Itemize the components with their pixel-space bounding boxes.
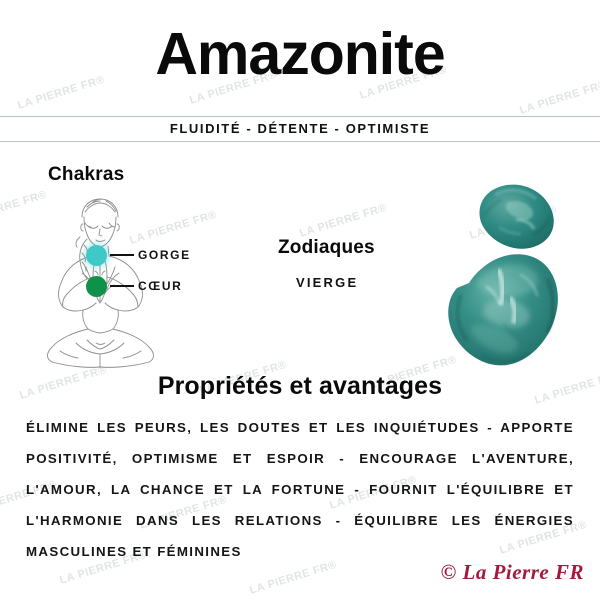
page-subtitle: FLUIDITÉ - DÉTENTE - OPTIMISTE <box>0 120 600 138</box>
leader-line-gorge <box>110 254 134 256</box>
chakras-heading: Chakras <box>48 164 124 186</box>
divider-top <box>0 116 600 117</box>
watermark-text: LA PIERRE FR® <box>298 202 388 240</box>
divider-bottom <box>0 141 600 142</box>
product-info-card: LA PIERRE FR® LA PIERRE FR® LA PIERRE FR… <box>0 0 600 600</box>
leader-line-coeur <box>110 285 134 287</box>
chakra-dot-gorge <box>86 245 107 266</box>
page-title: Amazonite <box>0 18 600 90</box>
zodiaques-heading: Zodiaques <box>278 237 375 259</box>
amazonite-stones-image <box>415 175 590 375</box>
brand-signature: © La Pierre FR <box>441 560 584 585</box>
properties-heading: Propriétés et avantages <box>0 372 600 401</box>
zodiaque-sign-vierge: VIERGE <box>296 275 358 290</box>
chakra-label-gorge: GORGE <box>138 248 191 262</box>
chakra-label-coeur: CŒUR <box>138 279 182 293</box>
properties-body: ÉLIMINE LES PEURS, LES DOUTES ET LES INQ… <box>26 412 574 567</box>
chakra-dot-coeur <box>86 276 107 297</box>
